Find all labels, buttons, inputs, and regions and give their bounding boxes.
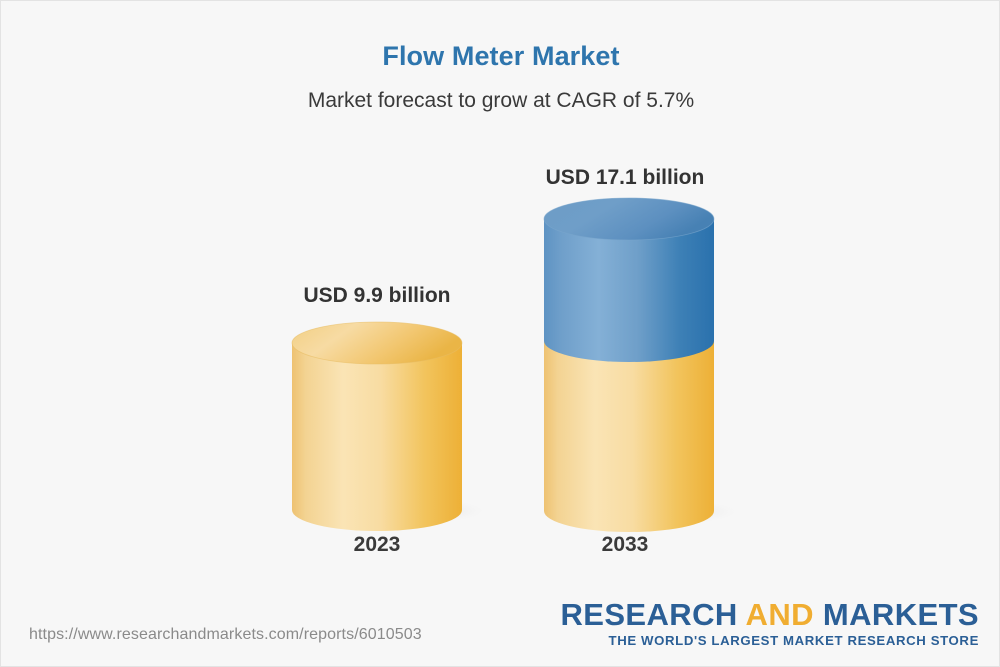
logo-tagline: THE WORLD'S LARGEST MARKET RESEARCH STOR…: [560, 633, 979, 648]
bar-cylinder-2033[interactable]: [531, 197, 741, 532]
value-label-2033: USD 17.1 billion: [445, 166, 805, 190]
brand-logo[interactable]: RESEARCH AND MARKETS THE WORLD'S LARGEST…: [560, 599, 979, 648]
chart-plot-area: USD 9.9 billion USD 17.1 billion: [1, 1, 1000, 667]
source-url[interactable]: https://www.researchandmarkets.com/repor…: [29, 626, 422, 644]
logo-word-research: RESEARCH: [560, 597, 737, 632]
category-label-2033: 2033: [445, 533, 805, 557]
logo-word-markets: MARKETS: [823, 597, 979, 632]
logo-wordmark: RESEARCH AND MARKETS: [560, 599, 979, 631]
bar-cylinder-2023[interactable]: [279, 321, 489, 531]
logo-word-and: AND: [746, 597, 814, 632]
infographic-canvas: Flow Meter Market Market forecast to gro…: [0, 0, 1000, 667]
value-label-2023: USD 9.9 billion: [197, 284, 557, 308]
